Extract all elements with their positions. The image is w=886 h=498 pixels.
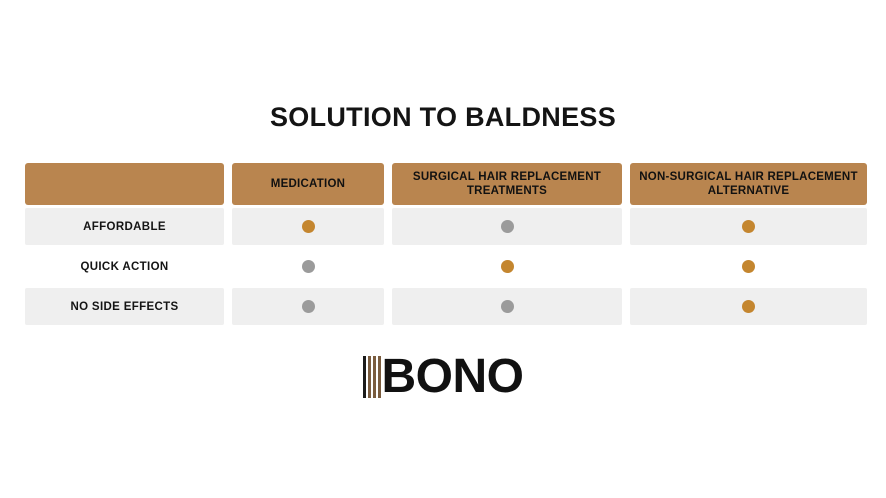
table-row: AFFORDABLE (25, 208, 859, 245)
rating-dot-positive-icon (742, 300, 755, 313)
logo-inner: BONO (363, 352, 524, 402)
logo-wordmark: BONO (382, 354, 524, 400)
rating-dot-positive-icon (742, 260, 755, 273)
table-row: QUICK ACTION (25, 248, 859, 285)
table-header-row: MEDICATION SURGICAL HAIR REPLACEMENT TRE… (25, 163, 859, 205)
cell-no-side-effects-non-surgical (630, 288, 867, 325)
slide-canvas: SOLUTION TO BALDNESS MEDICATION SURGICAL… (0, 0, 886, 498)
table-header-cell-criteria (25, 163, 224, 205)
brand-logo: BONO (0, 352, 886, 402)
table-header-cell-non-surgical: NON-SURGICAL HAIR REPLACEMENT ALTERNATIV… (630, 163, 867, 205)
cell-affordable-medication (232, 208, 384, 245)
rating-dot-positive-icon (742, 220, 755, 233)
rating-dot-positive-icon (501, 260, 514, 273)
table-header-cell-medication: MEDICATION (232, 163, 384, 205)
cell-quick-action-medication (232, 248, 384, 285)
rating-dot-negative-icon (302, 260, 315, 273)
cell-no-side-effects-surgical (392, 288, 622, 325)
cell-quick-action-non-surgical (630, 248, 867, 285)
cell-affordable-surgical (392, 208, 622, 245)
row-label-affordable: AFFORDABLE (25, 208, 224, 245)
rating-dot-negative-icon (501, 220, 514, 233)
comparison-table: MEDICATION SURGICAL HAIR REPLACEMENT TRE… (25, 163, 859, 325)
row-label-no-side-effects: NO SIDE EFFECTS (25, 288, 224, 325)
table-header-cell-surgical: SURGICAL HAIR REPLACEMENT TREATMENTS (392, 163, 622, 205)
row-label-quick-action: QUICK ACTION (25, 248, 224, 285)
cell-quick-action-surgical (392, 248, 622, 285)
page-title: SOLUTION TO BALDNESS (0, 100, 886, 134)
cell-affordable-non-surgical (630, 208, 867, 245)
logo-stripes-icon (363, 356, 381, 398)
rating-dot-negative-icon (302, 300, 315, 313)
rating-dot-negative-icon (501, 300, 514, 313)
rating-dot-positive-icon (302, 220, 315, 233)
table-row: NO SIDE EFFECTS (25, 288, 859, 325)
cell-no-side-effects-medication (232, 288, 384, 325)
